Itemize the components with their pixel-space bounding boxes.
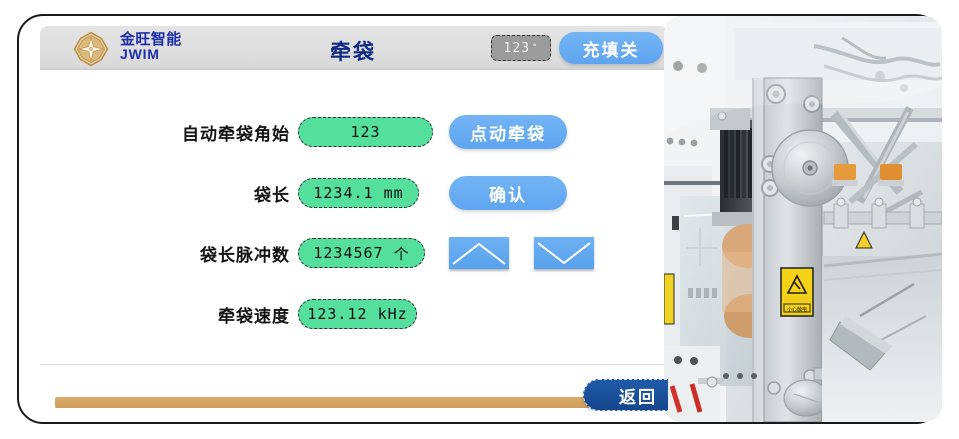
form-area: 自动牵袋角始 123 点动牵袋 袋长 1234.1 mm 确认 袋长脉冲数 12… <box>40 70 668 364</box>
field-unit: 个 <box>394 243 410 264</box>
triangle-down-icon-button[interactable] <box>534 237 594 269</box>
row-label: 牵袋速度 <box>100 302 290 327</box>
svg-text:小心触电: 小心触电 <box>787 306 807 313</box>
bag-length-pulse-count-field[interactable]: 1234567 个 <box>298 238 425 268</box>
brand-text: 金旺智能 JWIM <box>120 32 182 62</box>
triangle-up-icon <box>449 237 509 269</box>
brand-name-en: JWIM <box>120 47 182 61</box>
confirm-button[interactable]: 确认 <box>449 176 567 210</box>
field-value: 123.12 <box>307 305 367 323</box>
footer-gold-bar <box>55 397 668 408</box>
row-label: 自动牵袋角始 <box>100 120 290 145</box>
footer-divider <box>40 364 668 365</box>
triangle-up-icon-button[interactable] <box>449 237 509 269</box>
form-row-bag-length: 袋长 1234.1 mm 确认 <box>40 171 668 215</box>
row-label: 袋长 <box>100 181 290 206</box>
form-row-auto-drag-start-angle: 自动牵袋角始 123 点动牵袋 <box>40 110 668 154</box>
field-value: 1234567 <box>313 244 383 262</box>
machine-photo: 小心触电 <box>664 16 942 422</box>
jog-drag-bag-button[interactable]: 点动牵袋 <box>449 115 567 149</box>
hmi-header-bar: 金旺智能 JWIM 牵袋 123° 充填关 <box>40 26 668 70</box>
triangle-down-icon <box>534 237 594 269</box>
fill-close-button[interactable]: 充填关 <box>559 32 663 64</box>
field-unit: mm <box>384 184 404 202</box>
angle-readout-unit: ° <box>532 43 538 53</box>
angle-readout-field[interactable]: 123° <box>491 35 551 61</box>
form-row-drag-bag-speed: 牵袋速度 123.12 kHz <box>40 292 668 336</box>
field-unit: kHz <box>378 305 408 323</box>
form-row-bag-length-pulse-count: 袋长脉冲数 1234567 个 <box>40 231 668 275</box>
hmi-panel: 金旺智能 JWIM 牵袋 123° 充填关 自动牵袋角始 123 点动牵袋 袋长 <box>40 26 668 411</box>
row-label: 袋长脉冲数 <box>100 241 290 266</box>
auto-drag-start-angle-field[interactable]: 123 <box>298 117 433 147</box>
back-button[interactable]: 返回 <box>583 379 668 411</box>
screenshot-root: 金旺智能 JWIM 牵袋 123° 充填关 自动牵袋角始 123 点动牵袋 袋长 <box>0 0 959 439</box>
field-value: 1234.1 <box>313 184 373 202</box>
brand-name-cn: 金旺智能 <box>120 32 182 47</box>
page-title: 牵袋 <box>330 36 376 66</box>
field-value: 123 <box>350 123 380 141</box>
diamond-star-logo-icon <box>73 31 109 67</box>
bag-length-field[interactable]: 1234.1 mm <box>298 178 419 208</box>
drag-bag-speed-field[interactable]: 123.12 kHz <box>298 299 417 329</box>
angle-readout-value: 123 <box>504 41 530 56</box>
